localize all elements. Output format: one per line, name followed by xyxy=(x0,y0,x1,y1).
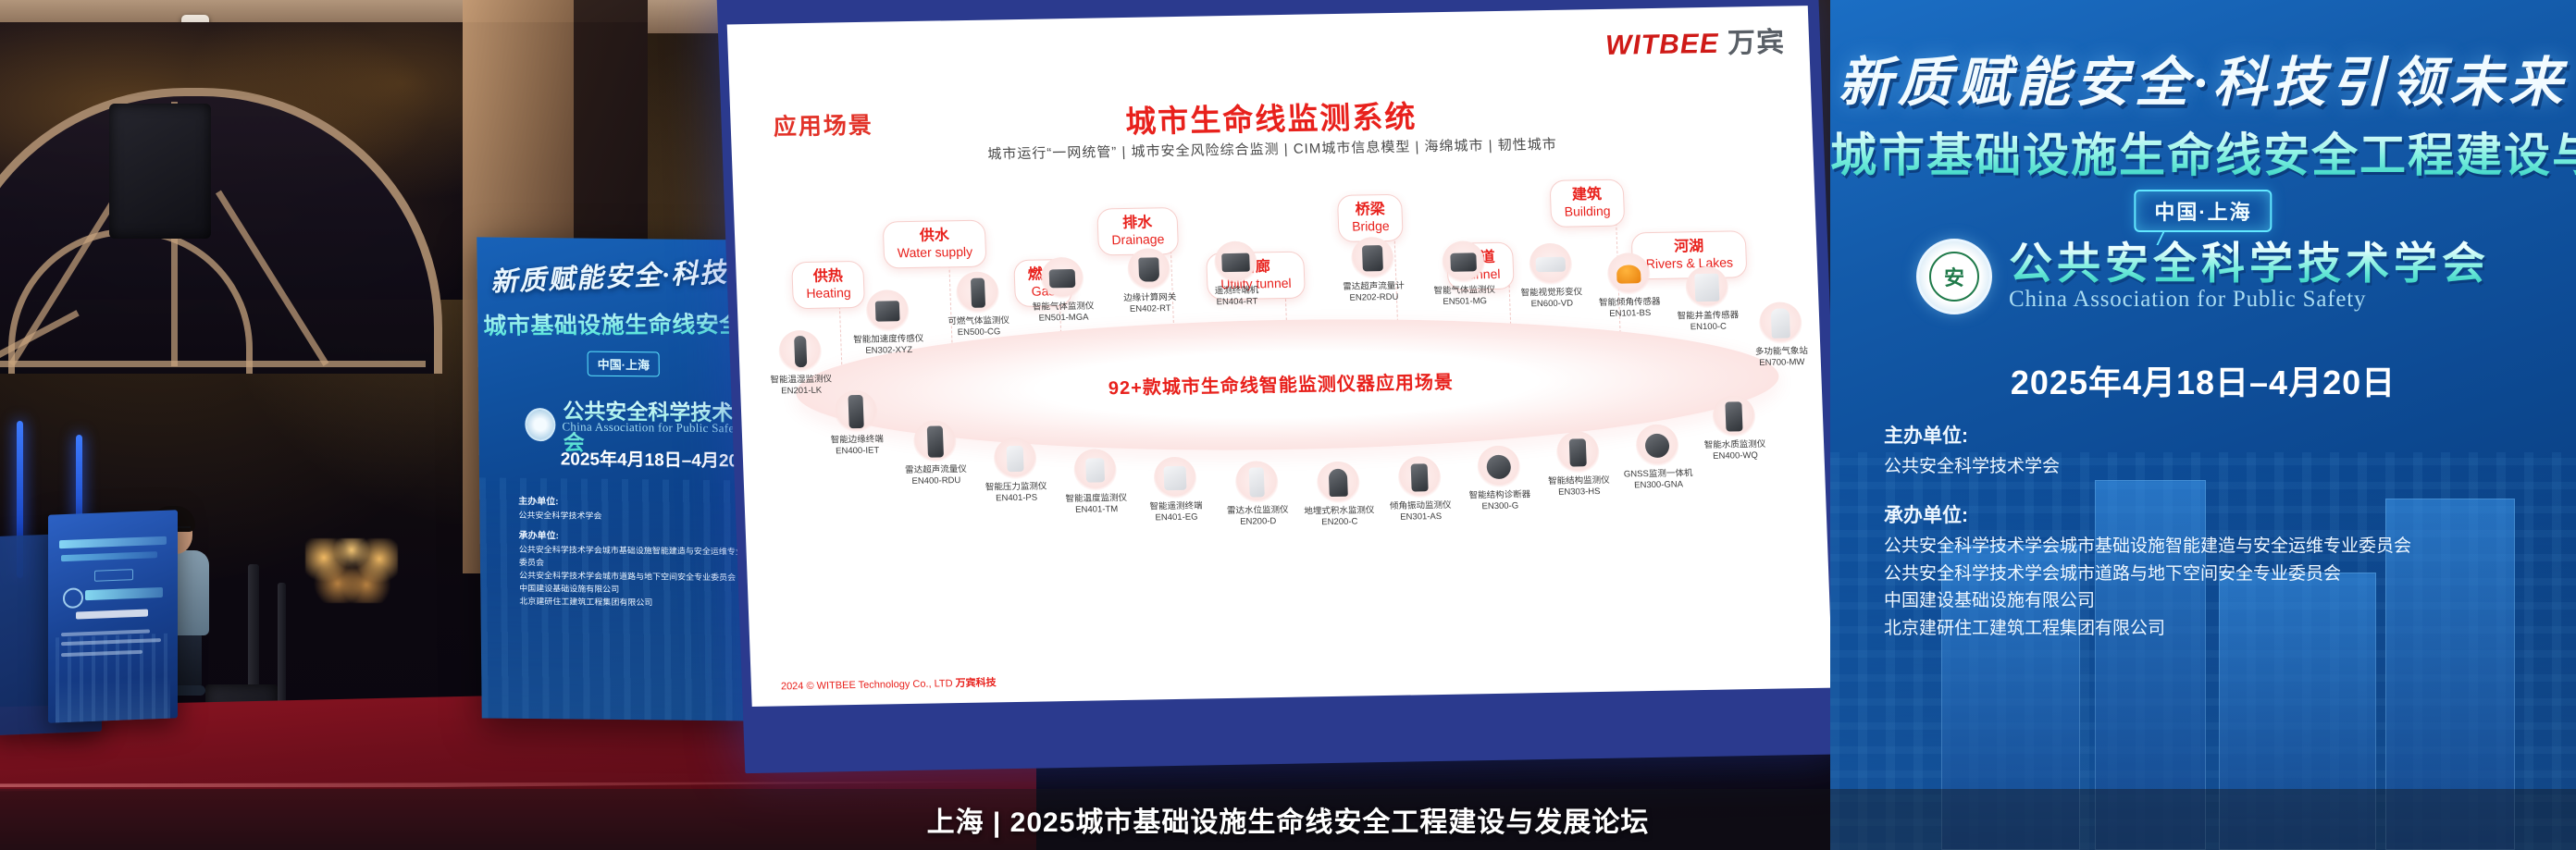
device-icon xyxy=(913,420,958,463)
device-model: EN501-MG xyxy=(1417,296,1513,309)
device-icon xyxy=(1442,240,1486,284)
device-icon xyxy=(1214,240,1258,284)
copyright-cn: 万宾科技 xyxy=(955,677,996,689)
poster-organizer-label: 承办单位: xyxy=(1884,500,2548,528)
category-bubble-building[interactable]: 建筑 Building xyxy=(1549,179,1625,228)
presentation-slide: WITBEE 万宾 应用场景 城市生命线监测系统 城市运行“一网统管” | 城市… xyxy=(727,6,1833,707)
poster-headline: 新质赋能安全·科技引领未来 xyxy=(1830,39,2576,117)
podium-subhead-bar xyxy=(61,551,157,561)
device-item[interactable]: 雷达超声流量计 EN202-RDU xyxy=(1324,236,1423,304)
poster-organizer-item: 公共安全科学技术学会城市道路与地下空间安全专业委员会 xyxy=(1884,561,2548,587)
led-screen: WITBEE 万宾 应用场景 城市生命线监测系统 城市运行“一网统管” | 城市… xyxy=(717,0,1847,773)
device-icon xyxy=(1758,302,1802,345)
device-icon xyxy=(1040,257,1084,301)
device-item[interactable]: 可燃气体监测仪 EN500-CG xyxy=(929,271,1028,339)
poster-organizer-item: 公共安全科学技术学会城市基础设施智能建造与安全运维专业委员会 xyxy=(1884,533,2548,560)
device-item[interactable]: 智能气体监测仪 EN501-MG xyxy=(1415,240,1514,309)
device-icon xyxy=(1316,462,1360,505)
category-en: Building xyxy=(1564,203,1610,220)
device-icon xyxy=(1529,243,1573,287)
category-cn: 桥梁 xyxy=(1351,202,1389,219)
podium-skyline-graphic xyxy=(56,634,170,723)
device-icon xyxy=(1153,457,1197,500)
slide-copyright: 2024 © WITBEE Technology Co., LTD 万宾科技 xyxy=(781,674,997,693)
category-en: Water supply xyxy=(898,244,973,261)
line-array-speaker xyxy=(109,104,211,239)
device-icon xyxy=(956,271,1000,314)
category-bubble-bridge[interactable]: 桥梁 Bridge xyxy=(1337,194,1404,242)
device-model: EN400-WQ xyxy=(1687,450,1783,462)
category-cn: 排水 xyxy=(1111,215,1165,232)
podium-headline-bar xyxy=(59,536,167,548)
caps-seal-icon: 安 xyxy=(1916,239,1992,314)
standee-seal-icon xyxy=(525,408,555,441)
device-icon xyxy=(1397,456,1442,499)
device-item[interactable]: 智能温湿监测仪 EN201-LK xyxy=(751,329,850,398)
device-model: EN501-MGA xyxy=(1015,312,1111,325)
copyright-en: 2024 © WITBEE Technology Co., LTD xyxy=(781,678,953,692)
device-icon xyxy=(1606,253,1651,296)
podium-date-bar xyxy=(76,610,148,620)
standee-headline: 新质赋能安全·科技引领未来 xyxy=(489,250,749,300)
standee-organizer-item: 公共安全科学技术学会城市基础设施智能建造与安全运维专业委员会 xyxy=(519,544,747,572)
device-icon xyxy=(993,437,1037,481)
device-name: 智能加速度传感仪 xyxy=(840,334,936,347)
witbee-logo: WITBEE 万宾 xyxy=(1604,19,1786,63)
standee-location-chip: 中国·上海 xyxy=(588,351,661,377)
poster-organizer-item: 中国建设基础设施有限公司 xyxy=(1884,587,2548,614)
poster-date: 2025年4月18日–4月20日 xyxy=(1830,356,2576,404)
device-icon xyxy=(865,289,910,333)
category-en: Bridge xyxy=(1352,218,1390,234)
device-icon xyxy=(1127,248,1171,291)
device-model: EN402-RT xyxy=(1102,302,1198,315)
standee-subhead: 城市基础设施生命线安全工程建设与发展论坛 xyxy=(483,304,760,341)
witbee-logo-cn: 万宾 xyxy=(1728,28,1786,59)
device-item[interactable]: 智能加速度传感仪 EN302-XYZ xyxy=(838,289,937,358)
device-icon xyxy=(1555,431,1600,474)
device-item[interactable]: 智能气体监测仪 EN501-MGA xyxy=(1013,256,1112,325)
caption-text: 上海 | 2025城市基础设施生命线安全工程建设与发展论坛 xyxy=(927,799,1650,840)
device-model: EN404-RT xyxy=(1189,296,1285,309)
standee-organizer-item: 北京建研住工建筑工程集团有限公司 xyxy=(519,596,747,611)
podium-association-bar xyxy=(85,587,163,600)
caption-bar: 上海 | 2025城市基础设施生命线安全工程建设与发展论坛 xyxy=(0,789,2576,850)
standee-organizer-label: 承办单位: xyxy=(519,531,559,541)
device-model: EN500-CG xyxy=(931,326,1027,339)
standee-organizers: 主办单位: 公共安全科学技术学会 承办单位: 公共安全科学技术学会城市基础设施智… xyxy=(518,495,747,610)
device-item[interactable]: 遥测终端机 EN404-RT xyxy=(1187,240,1286,309)
stage-standee-banner: 新质赋能安全·科技引领未来 城市基础设施生命线安全工程建设与发展论坛 中国·上海… xyxy=(477,237,759,721)
standee-date: 2025年4月18日–4月20日 xyxy=(561,445,757,472)
window-sill xyxy=(0,361,426,367)
device-icon xyxy=(1234,461,1279,504)
device-icon xyxy=(1351,237,1395,280)
podium-location-chip xyxy=(94,569,133,582)
device-item[interactable]: 边缘计算网关 EN402-RT xyxy=(1100,248,1199,316)
poster-association-block: 安 公共安全科学技术学会 China Association for Publi… xyxy=(1830,239,2576,314)
podium-primary xyxy=(48,510,178,722)
caps-seal-glyph: 安 xyxy=(1929,252,1979,302)
category-cn: 供水 xyxy=(897,228,972,246)
device-icon xyxy=(1477,446,1521,489)
category-bubble-water-supply[interactable]: 供水 Water supply xyxy=(883,220,987,269)
poster-subhead: 城市基础设施生命线安全工程建设与发展论坛 xyxy=(1830,118,2576,185)
poster-association-text: 公共安全科学技术学会 China Association for Public … xyxy=(2009,240,2490,312)
witbee-logo-en: WITBEE xyxy=(1605,29,1720,61)
device-model: EN302-XYZ xyxy=(841,344,937,357)
poster-host-item: 公共安全科学技术学会 xyxy=(1884,453,2548,480)
poster-organizer-item: 北京建研住工建筑工程集团有限公司 xyxy=(1884,615,2548,642)
device-name: GNSS监测一体机 xyxy=(1610,468,1706,481)
podium-seal-icon xyxy=(63,587,83,609)
device-model: EN300-G xyxy=(1452,500,1548,513)
device-icon xyxy=(1635,425,1679,468)
device-icon xyxy=(778,330,823,374)
category-cn: 建筑 xyxy=(1564,187,1611,204)
device-icon xyxy=(1712,395,1756,438)
standee-host-label: 主办单位: xyxy=(518,497,558,507)
poster-association-en: China Association for Public Safety xyxy=(2009,287,2490,313)
poster-organizers: 主办单位: 公共安全科学技术学会 承办单位: 公共安全科学技术学会城市基础设施智… xyxy=(1884,421,2548,642)
device-item[interactable]: 多功能气象站 EN700-MW xyxy=(1731,302,1830,370)
device-item[interactable]: 智能水质监测仪 EN400-WQ xyxy=(1685,395,1784,463)
device-model: EN202-RDU xyxy=(1326,291,1422,304)
standee-association-en: China Association for Public Safety xyxy=(562,419,744,436)
category-cn: 供热 xyxy=(805,268,850,286)
conference-photo: 新质赋能安全·科技引领未来 城市基础设施生命线安全工程建设与发展论坛 中国·上海… xyxy=(0,0,2576,850)
poster-host-label: 主办单位: xyxy=(1884,421,2548,449)
poster-association-cn: 公共安全科学技术学会 xyxy=(2009,240,2490,286)
chandelier-right xyxy=(305,538,398,603)
arched-window-inner xyxy=(8,228,253,374)
conference-poster-panel: 新质赋能安全·科技引领未来 城市基础设施生命线安全工程建设与发展论坛 中国·上海… xyxy=(1830,0,2576,850)
device-icon xyxy=(834,390,878,434)
device-icon xyxy=(1685,266,1729,310)
device-model: EN700-MW xyxy=(1734,357,1830,370)
device-model: EN300-GNA xyxy=(1610,479,1706,492)
category-en: Drainage xyxy=(1111,232,1164,249)
poster-location-chip: 中国·上海 xyxy=(2134,190,2272,232)
device-icon xyxy=(1073,449,1118,492)
